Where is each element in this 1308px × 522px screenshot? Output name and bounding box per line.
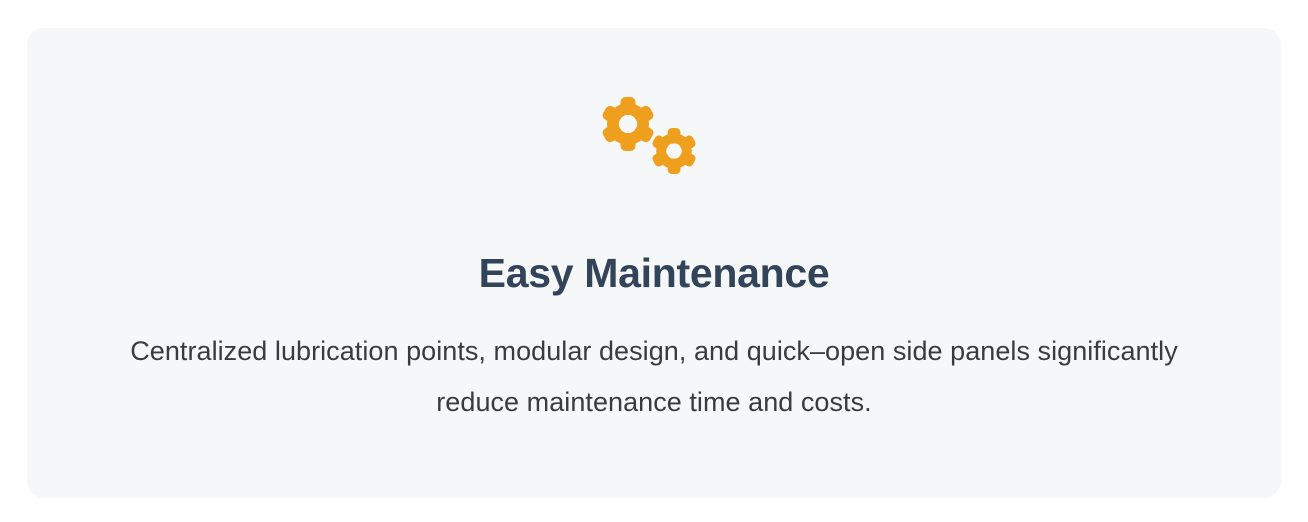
page-root: Easy Maintenance Centralized lubrication… [0, 0, 1308, 522]
feature-card: Easy Maintenance Centralized lubrication… [27, 28, 1281, 498]
gears-icon [602, 97, 706, 177]
card-title: Easy Maintenance [479, 251, 830, 296]
card-description: Centralized lubrication points, modular … [89, 326, 1219, 428]
